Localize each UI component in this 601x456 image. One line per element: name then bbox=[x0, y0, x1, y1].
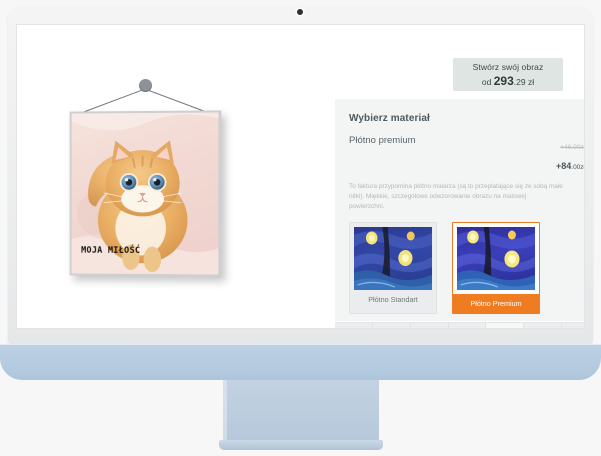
panel-heading: Wybierz materiał bbox=[349, 113, 585, 124]
price-prefix: od bbox=[482, 77, 494, 87]
price-major: 293 bbox=[494, 74, 514, 88]
price-badge[interactable]: Stwórz swój obraz od 293.29 zł bbox=[453, 58, 563, 91]
material-price-old: +46.00zł bbox=[560, 144, 585, 151]
resize-icon bbox=[389, 328, 400, 329]
material-price-new: +84.00zł bbox=[556, 164, 585, 171]
starry-night-thumbnail-icon bbox=[354, 227, 432, 290]
monitor-stand-base bbox=[219, 440, 383, 450]
step-7-hanging[interactable]: 7 bbox=[562, 323, 585, 329]
monitor-chin bbox=[0, 344, 601, 380]
material-price-new-minor: .00zł bbox=[571, 164, 585, 171]
step-5-material[interactable]: 5 bbox=[486, 323, 524, 329]
material-option-premium[interactable]: Płótno Premium bbox=[452, 222, 540, 314]
price-badge-value: od 293.29 zł bbox=[482, 74, 534, 88]
monitor-stand-neck bbox=[223, 380, 379, 442]
hanging-icon bbox=[578, 328, 585, 329]
monitor-device: MOJA MIŁOŚĆ Stwórz swój obraz od 293.29 … bbox=[0, 0, 601, 456]
material-summary-row: Płótno premium +46.00zł +84.00zł bbox=[349, 135, 585, 175]
webcam-dot-icon bbox=[297, 9, 303, 15]
cat-photo: MOJA MIŁOŚĆ bbox=[72, 112, 219, 274]
step-4-text[interactable]: 4 bbox=[449, 323, 487, 329]
material-option-label: Płótno Premium bbox=[453, 294, 539, 313]
canvas-artwork[interactable]: MOJA MIŁOŚĆ bbox=[70, 110, 222, 276]
price-currency: zł bbox=[526, 77, 535, 87]
step-1-image[interactable]: 1 bbox=[335, 323, 373, 329]
material-name: Płótno premium bbox=[349, 135, 416, 146]
material-configurator-panel: Wybierz materiał Płótno premium +46.00zł… bbox=[335, 99, 585, 321]
starry-night-thumbnail-icon bbox=[457, 227, 535, 290]
step-toolbar: 1 2 3 bbox=[335, 322, 585, 329]
material-price-new-major: +84 bbox=[556, 161, 571, 171]
text-icon bbox=[465, 328, 476, 329]
image-icon bbox=[351, 328, 362, 329]
material-options-list: Płótno Standart bbox=[349, 222, 585, 314]
material-icon bbox=[503, 328, 514, 329]
step-6-print[interactable]: 6 bbox=[524, 323, 562, 329]
price-badge-title: Stwórz swój obraz bbox=[473, 62, 544, 72]
wall-hook-icon bbox=[139, 79, 152, 92]
artwork-caption: MOJA MIŁOŚĆ bbox=[81, 246, 140, 256]
artwork-preview-area: MOJA MIŁOŚĆ bbox=[17, 25, 317, 328]
material-price-block: +46.00zł +84.00zł bbox=[556, 135, 585, 175]
step-2-resize[interactable]: 2 bbox=[373, 323, 411, 329]
material-option-standart[interactable]: Płótno Standart bbox=[349, 222, 437, 314]
step-3-pencil[interactable]: 3 bbox=[411, 323, 449, 329]
material-option-label: Płótno Standart bbox=[354, 290, 432, 309]
screen-viewport: MOJA MIŁOŚĆ Stwórz swój obraz od 293.29 … bbox=[16, 24, 585, 329]
pencil-icon bbox=[427, 328, 438, 329]
price-minor: .29 bbox=[514, 77, 526, 87]
material-description: To faktura przypomina płótno malarza (są… bbox=[349, 182, 563, 212]
print-icon bbox=[541, 328, 552, 329]
